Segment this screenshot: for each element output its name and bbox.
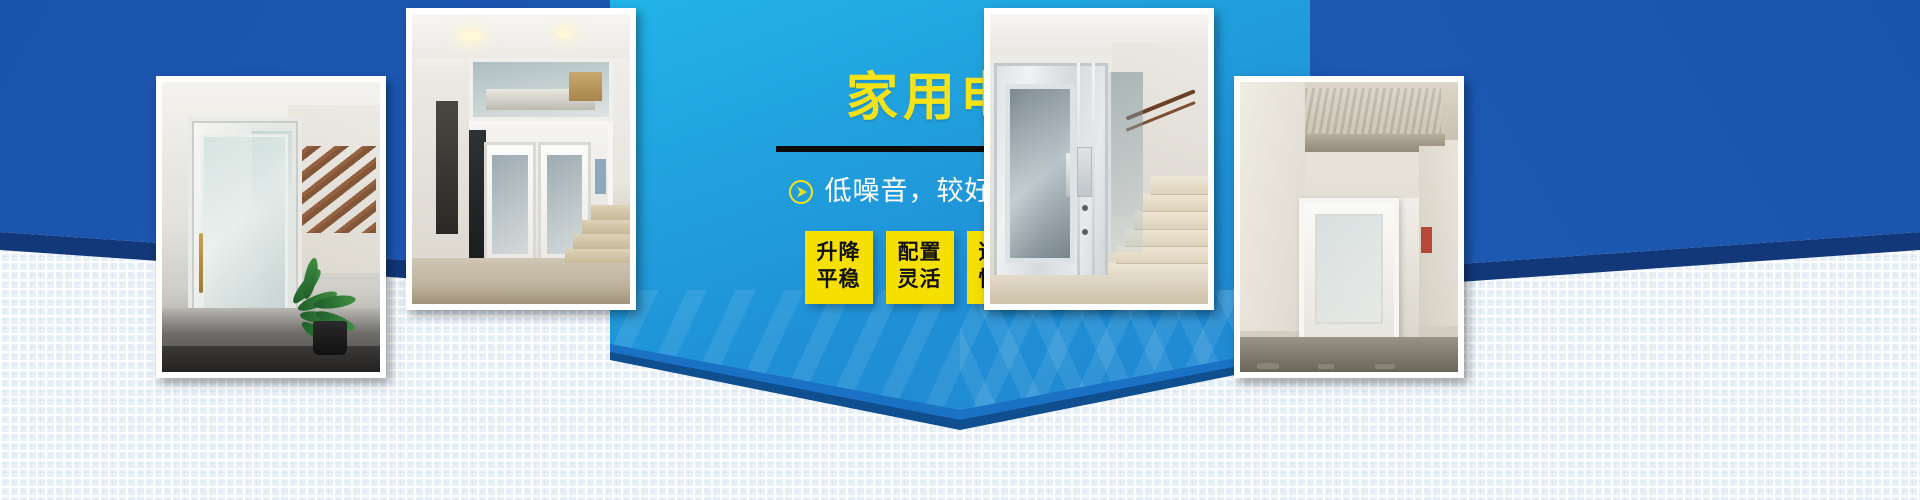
photo-stainless-cabin-stairs — [984, 8, 1214, 310]
feature-tag[interactable]: 升降 平稳 — [805, 231, 873, 304]
feature-tag[interactable]: 配置 灵活 — [886, 231, 954, 304]
photo-image — [162, 82, 380, 372]
circle-play-arrow-icon — [788, 179, 814, 205]
photo-image — [990, 14, 1208, 304]
feature-tag-line2: 灵活 — [886, 267, 954, 294]
photo-image — [412, 14, 630, 304]
feature-tag-line1: 升降 — [805, 240, 873, 267]
feature-tag-line2: 平稳 — [805, 267, 873, 294]
photo-white-double-door-elevator — [406, 8, 636, 310]
home-elevator-promo-banner: 家用电梯 低噪音，较好的经济性。 升降 平稳 配置 灵活 — [0, 0, 1920, 500]
photo-bare-room-install — [1234, 76, 1464, 378]
photo-image — [1240, 82, 1458, 372]
feature-tag-line1: 配置 — [886, 240, 954, 267]
photo-glass-cabin-with-plant — [156, 76, 386, 378]
